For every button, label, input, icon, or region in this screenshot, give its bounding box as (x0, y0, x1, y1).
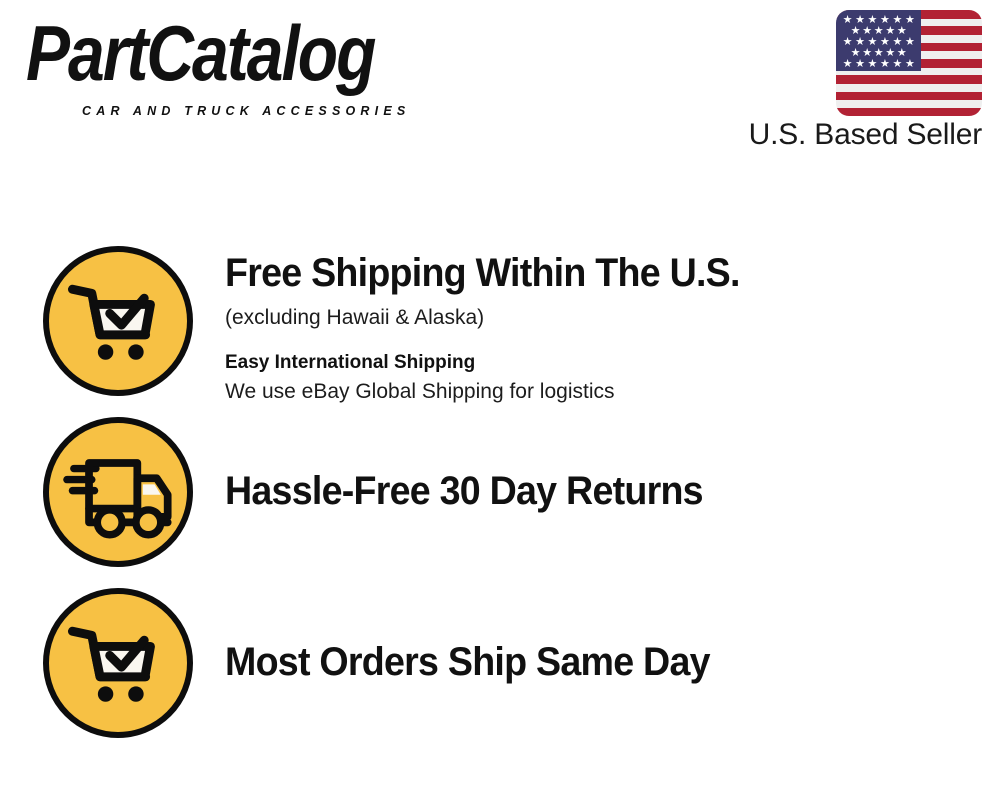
shopping-cart-check-icon (43, 588, 193, 738)
feature-text-block: Free Shipping Within The U.S. (excluding… (225, 246, 773, 406)
flag-stripe (836, 108, 982, 116)
feature-row-returns: Hassle-Free 30 Day Returns (43, 417, 733, 567)
us-flag-icon: ★ ★ ★ ★ ★ ★ ★ ★ ★ ★ ★ ★ (836, 10, 982, 116)
brand-wordmark: PartCatalog (20, 14, 490, 92)
feature-secondary-body: We use eBay Global Shipping for logistic… (225, 378, 773, 405)
flag-canton: ★ ★ ★ ★ ★ ★ ★ ★ ★ ★ ★ ★ (836, 10, 921, 71)
star-icon: ★ (880, 59, 890, 70)
star-icon: ★ (892, 59, 902, 70)
fast-delivery-truck-icon (43, 417, 193, 567)
brand-tagline: CAR AND TRUCK ACCESSORIES (20, 104, 490, 118)
feature-row-same-day: Most Orders Ship Same Day (43, 588, 741, 738)
feature-text-block: Hassle-Free 30 Day Returns (225, 417, 733, 567)
star-icon: ★ (868, 59, 878, 70)
star-icon: ★ (905, 59, 915, 70)
us-flag-graphic: ★ ★ ★ ★ ★ ★ ★ ★ ★ ★ ★ ★ (836, 10, 982, 116)
feature-text-block: Most Orders Ship Same Day (225, 588, 741, 738)
feature-headline: Most Orders Ship Same Day (225, 641, 710, 684)
us-based-seller-label: U.S. Based Seller (749, 118, 982, 152)
star-row: ★ ★ ★ ★ ★ ★ (840, 59, 917, 70)
shopping-cart-check-icon (43, 246, 193, 396)
feature-row-free-shipping: Free Shipping Within The U.S. (excluding… (43, 246, 773, 406)
feature-headline: Free Shipping Within The U.S. (225, 252, 740, 295)
flag-stars: ★ ★ ★ ★ ★ ★ ★ ★ ★ ★ ★ ★ (836, 10, 921, 71)
feature-subtext: (excluding Hawaii & Alaska) (225, 304, 773, 332)
star-icon: ★ (843, 59, 853, 70)
feature-headline: Hassle-Free 30 Day Returns (225, 470, 703, 513)
feature-secondary-title: Easy International Shipping (225, 351, 773, 376)
partcatalog-logo[interactable]: PartCatalog CAR AND TRUCK ACCESSORIES (20, 14, 490, 114)
star-icon: ★ (855, 59, 865, 70)
promo-banner: PartCatalog CAR AND TRUCK ACCESSORIES ★ … (0, 0, 1000, 800)
